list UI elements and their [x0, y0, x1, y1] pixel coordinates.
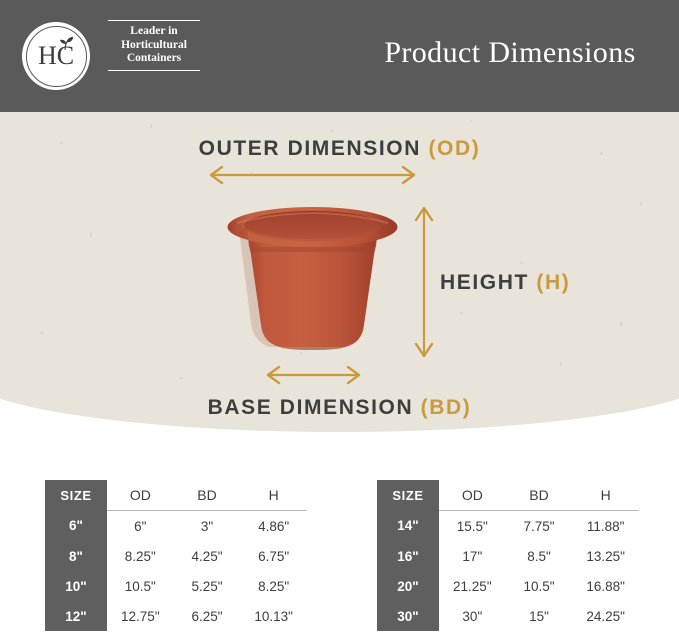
dimensions-table: SIZE OD BD H 6" 6" 3" 4.86" 8" 8.25" 4.2…	[45, 480, 307, 631]
cell-bd: 5.25"	[174, 571, 241, 601]
base-dimension-code: (BD)	[421, 396, 472, 419]
page-title: Product Dimensions	[360, 36, 660, 70]
cell-size: 20"	[377, 571, 439, 601]
header-od: OD	[439, 480, 506, 511]
header-bd: BD	[174, 480, 241, 511]
header-od: OD	[107, 480, 174, 511]
cell-bd: 6.25"	[174, 601, 241, 631]
cell-h: 4.86"	[240, 511, 307, 542]
cell-h: 11.88"	[572, 511, 639, 542]
header-size: SIZE	[45, 480, 107, 511]
height-arrow	[413, 202, 435, 362]
table-row: 14" 15.5" 7.75" 11.88"	[377, 511, 639, 542]
base-dimension-text: BASE DIMENSION	[208, 396, 414, 419]
cell-h: 10.13"	[240, 601, 307, 631]
brand-logo: HC Leader in Horticultural Containers	[22, 20, 192, 94]
cell-od: 10.5"	[107, 571, 174, 601]
table-row: 30" 30" 15" 24.25"	[377, 601, 639, 631]
table-row: 6" 6" 3" 4.86"	[45, 511, 307, 542]
table-row: 20" 21.25" 10.5" 16.88"	[377, 571, 639, 601]
header-bd: BD	[506, 480, 573, 511]
cell-bd: 3"	[174, 511, 241, 542]
cell-h: 16.88"	[572, 571, 639, 601]
cell-od: 21.25"	[439, 571, 506, 601]
cell-size: 10"	[45, 571, 107, 601]
cell-od: 12.75"	[107, 601, 174, 631]
cell-od: 6"	[107, 511, 174, 542]
hc-logo-icon: HC	[22, 22, 90, 90]
height-code: (H)	[536, 271, 570, 294]
cell-od: 17"	[439, 541, 506, 571]
header-h: H	[572, 480, 639, 511]
cell-size: 8"	[45, 541, 107, 571]
cell-size: 16"	[377, 541, 439, 571]
table-header-row: SIZE OD BD H	[377, 480, 639, 511]
cell-bd: 15"	[506, 601, 573, 631]
table-row: 8" 8.25" 4.25" 6.75"	[45, 541, 307, 571]
tagline-line-3: Containers	[106, 52, 202, 66]
size-table-right: SIZE OD BD H 14" 15.5" 7.75" 11.88" 16" …	[377, 480, 639, 631]
outer-dimension-label: OUTER DIMENSION (OD)	[0, 137, 679, 161]
cell-h: 8.25"	[240, 571, 307, 601]
cell-od: 15.5"	[439, 511, 506, 542]
outer-dimension-code: (OD)	[428, 137, 480, 160]
cell-size: 30"	[377, 601, 439, 631]
cell-h: 13.25"	[572, 541, 639, 571]
cell-bd: 4.25"	[174, 541, 241, 571]
table-header-row: SIZE OD BD H	[45, 480, 307, 511]
cell-size: 12"	[45, 601, 107, 631]
cell-h: 6.75"	[240, 541, 307, 571]
tagline-rule-bottom	[108, 70, 200, 71]
cell-size: 14"	[377, 511, 439, 542]
header-h: H	[240, 480, 307, 511]
brand-tagline: Leader in Horticultural Containers	[106, 20, 202, 71]
cell-od: 8.25"	[107, 541, 174, 571]
height-text: HEIGHT	[440, 271, 529, 294]
tagline-line-2: Horticultural	[106, 39, 202, 53]
cell-bd: 8.5"	[506, 541, 573, 571]
page-header: HC Leader in Horticultural Containers Pr…	[0, 0, 679, 112]
hc-monogram: HC	[22, 42, 90, 70]
cell-bd: 7.75"	[506, 511, 573, 542]
cell-od: 30"	[439, 601, 506, 631]
table-row: 10" 10.5" 5.25" 8.25"	[45, 571, 307, 601]
table-row: 16" 17" 8.5" 13.25"	[377, 541, 639, 571]
tagline-line-1: Leader in	[106, 25, 202, 39]
table-row: 12" 12.75" 6.25" 10.13"	[45, 601, 307, 631]
base-dimension-label: BASE DIMENSION (BD)	[0, 396, 679, 420]
header-size: SIZE	[377, 480, 439, 511]
dimensions-diagram: OUTER DIMENSION (OD)	[0, 112, 679, 442]
base-dimension-arrow	[262, 364, 365, 386]
dimensions-table: SIZE OD BD H 14" 15.5" 7.75" 11.88" 16" …	[377, 480, 639, 631]
size-table-left: SIZE OD BD H 6" 6" 3" 4.86" 8" 8.25" 4.2…	[45, 480, 307, 631]
cell-h: 24.25"	[572, 601, 639, 631]
cell-size: 6"	[45, 511, 107, 542]
plant-pot-illustration	[225, 197, 400, 377]
cell-bd: 10.5"	[506, 571, 573, 601]
outer-dimension-text: OUTER DIMENSION	[199, 137, 421, 160]
outer-dimension-arrow	[205, 164, 420, 186]
height-label: HEIGHT (H)	[440, 271, 570, 295]
